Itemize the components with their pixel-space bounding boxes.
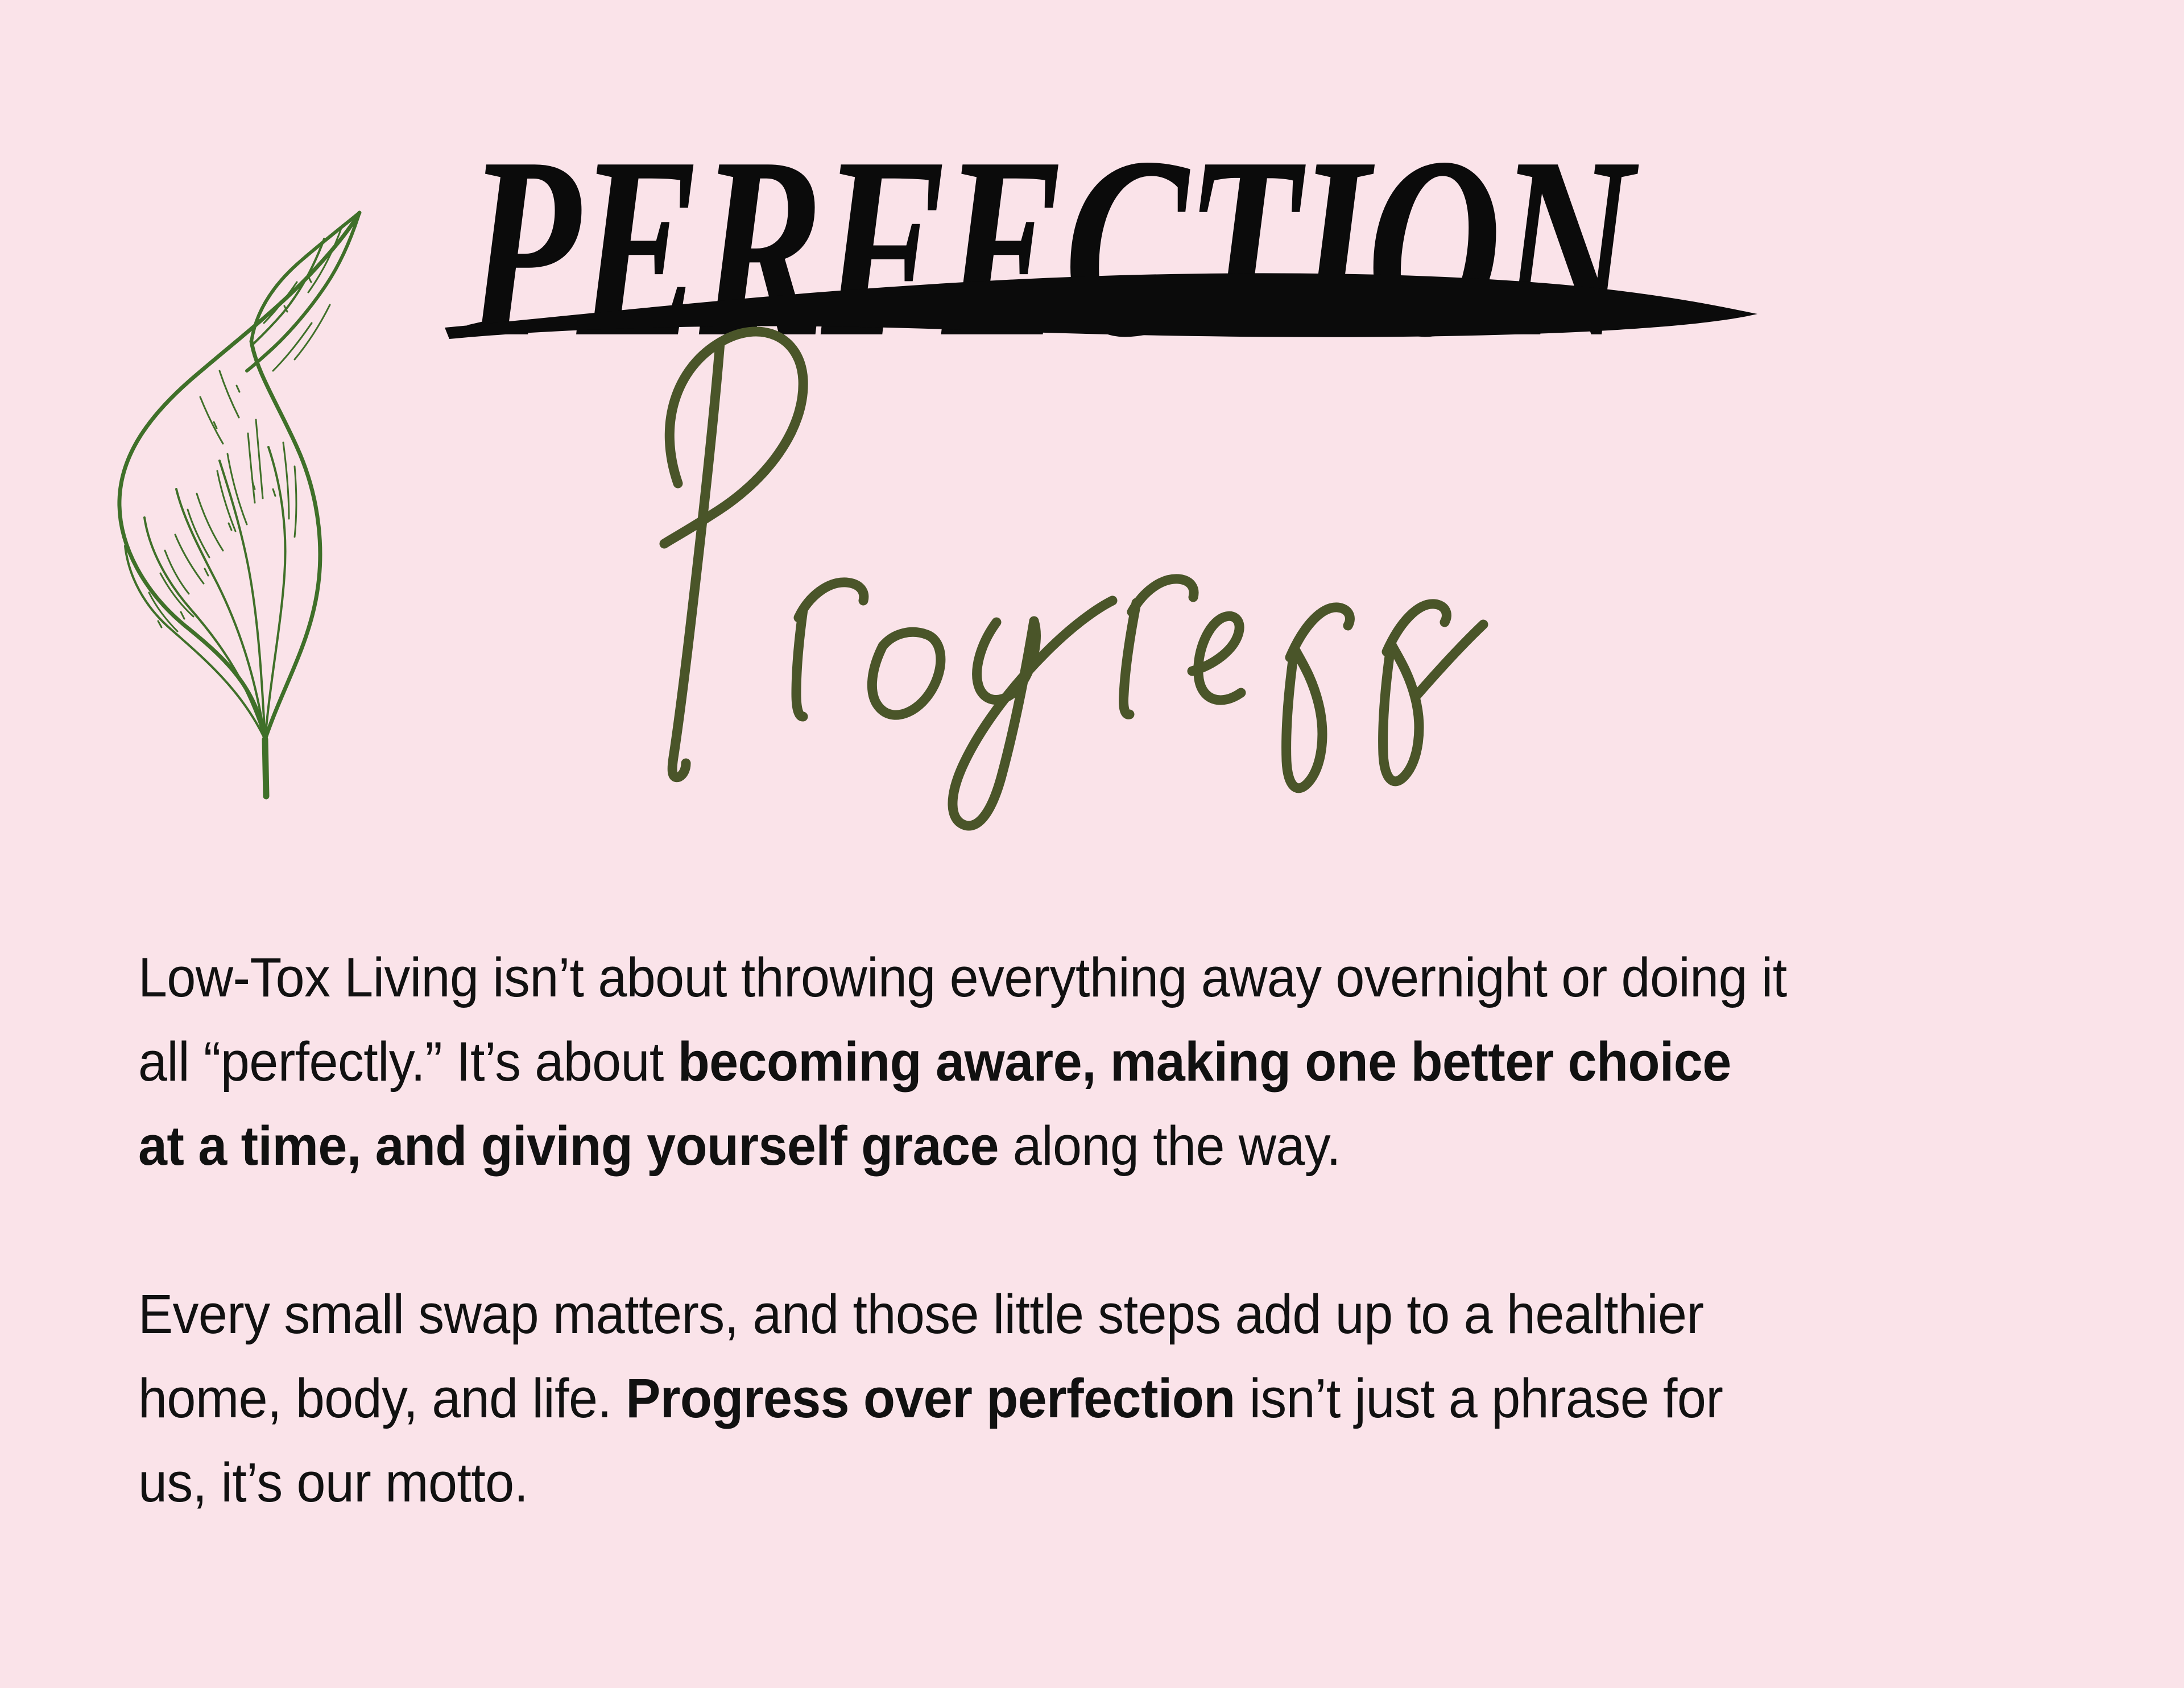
p2-run-2-bold: Progress over perfection: [626, 1367, 1235, 1429]
headline-progress-script: [603, 296, 1570, 842]
paragraph-2: Every small swap matters, and those litt…: [138, 1272, 1788, 1525]
leaf-illustration: [85, 171, 438, 808]
p1-run-3: along the way.: [999, 1115, 1341, 1177]
slide-canvas: PERFECTION: [0, 0, 2184, 1688]
headline-group: PERFECTION: [432, 108, 1854, 859]
body-copy: Low-Tox Living isn’t about throwing ever…: [138, 936, 1788, 1525]
paragraph-1: Low-Tox Living isn’t about throwing ever…: [138, 936, 1788, 1188]
